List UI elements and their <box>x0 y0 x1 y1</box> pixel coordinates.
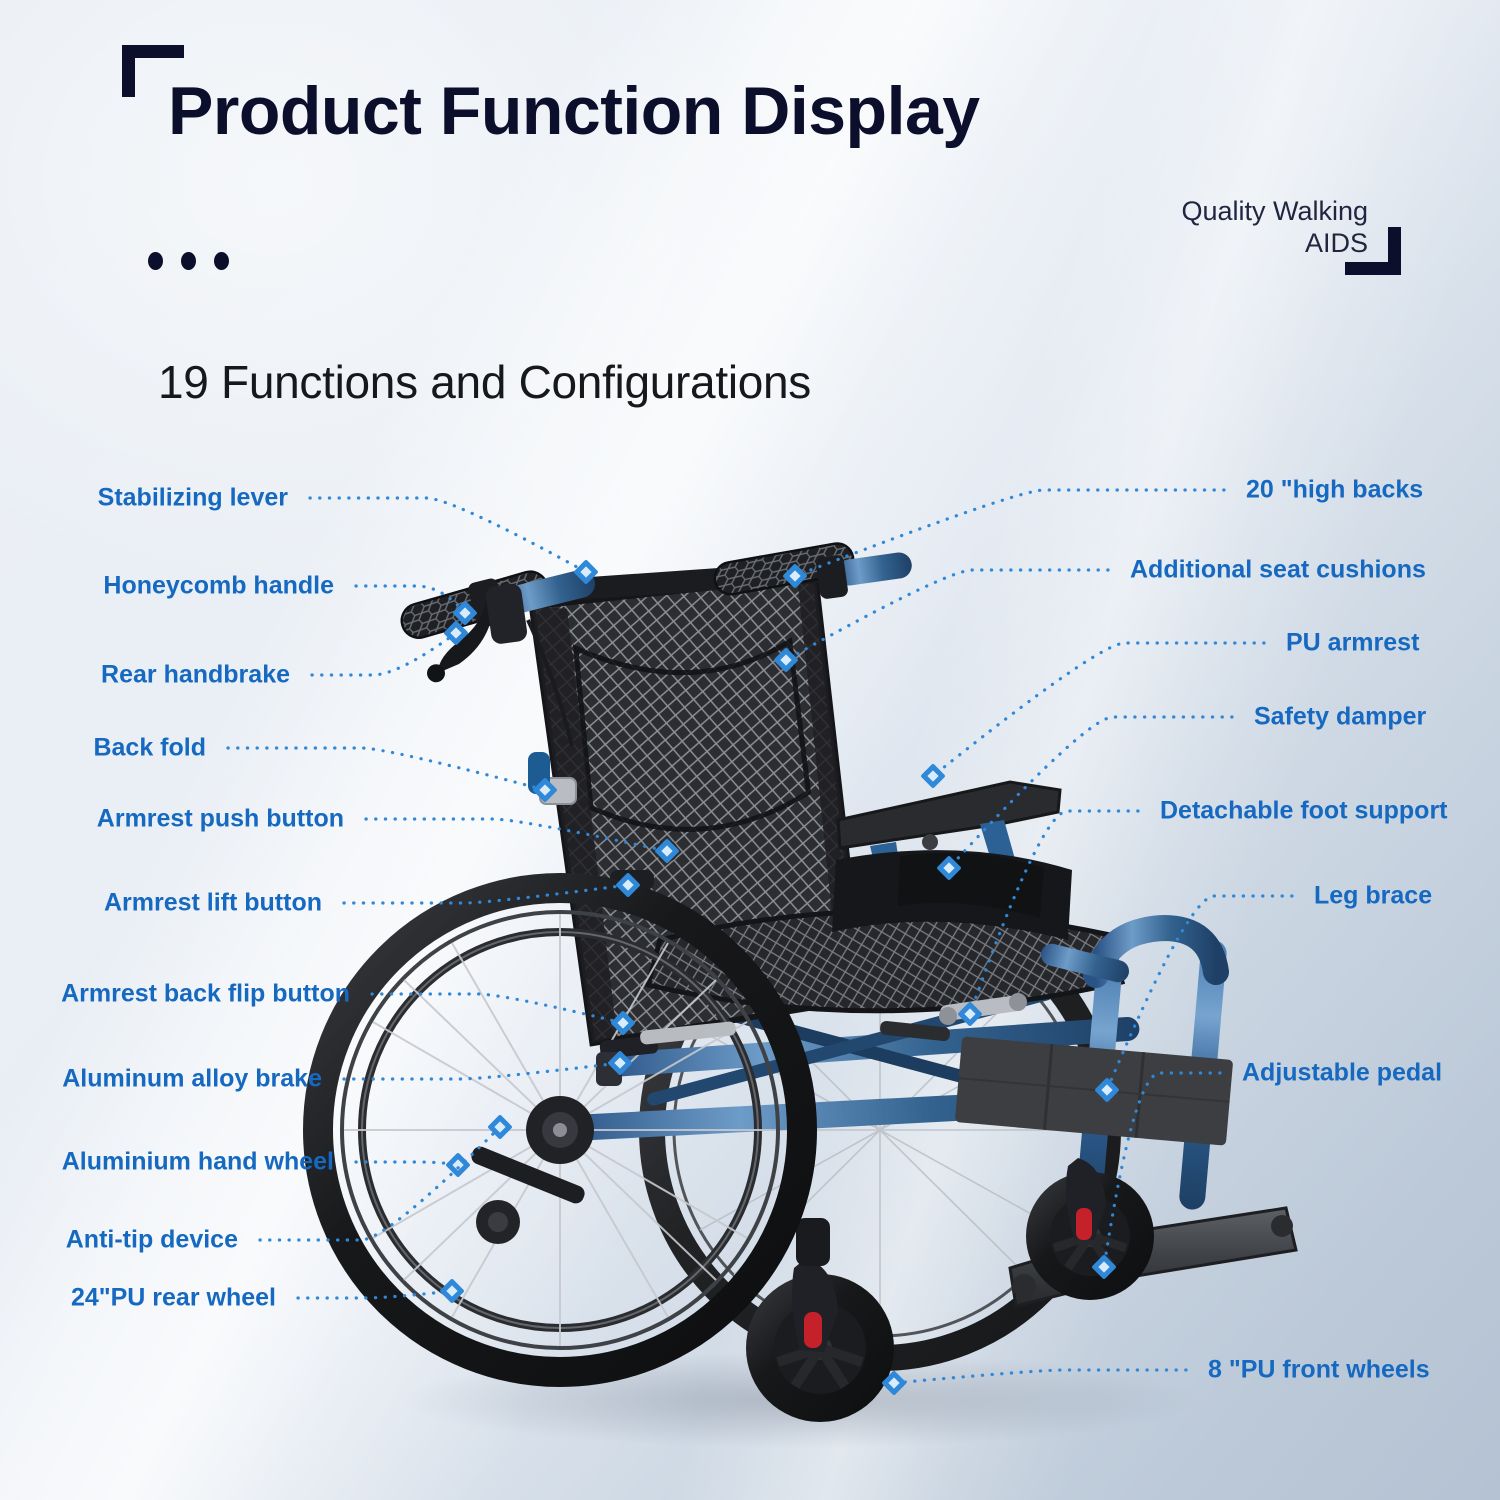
callout-label-safety-damper: Safety damper <box>1254 703 1426 732</box>
callout-label-honeycomb-handle: Honeycomb handle <box>103 572 334 601</box>
callout-label-anti-tip-device: Anti-tip device <box>66 1226 238 1255</box>
callout-label-detachable-foot-support: Detachable foot support <box>1160 797 1448 826</box>
callout-label-back-fold: Back fold <box>93 734 206 763</box>
callout-label-armrest-back-flip-button: Armrest back flip button <box>61 980 350 1009</box>
callout-label-aluminium-hand-wheel: Aluminium hand wheel <box>62 1148 334 1177</box>
callout-label-additional-seat-cushions: Additional seat cushions <box>1130 556 1426 585</box>
callout-label-8-pu-front-wheels: 8 "PU front wheels <box>1208 1356 1430 1385</box>
callout-label-pu-armrest: PU armrest <box>1286 629 1419 658</box>
subtitle-line-2: AIDS <box>1028 228 1368 260</box>
section-heading: 19 Functions and Configurations <box>158 355 811 409</box>
callout-label-20-high-backs: 20 "high backs <box>1246 476 1423 505</box>
dot-2 <box>181 252 196 270</box>
callout-label-stabilizing-lever: Stabilizing lever <box>98 484 288 513</box>
callout-label-armrest-push-button: Armrest push button <box>97 805 344 834</box>
callout-label-adjustable-pedal: Adjustable pedal <box>1242 1059 1442 1088</box>
decorative-dots <box>148 252 229 270</box>
callout-label-leg-brace: Leg brace <box>1314 882 1432 911</box>
callout-label-aluminum-alloy-brake: Aluminum alloy brake <box>62 1065 322 1094</box>
subtitle-line-1: Quality Walking <box>1028 196 1368 228</box>
dot-3 <box>214 252 229 270</box>
callout-label-24pu-rear-wheel: 24"PU rear wheel <box>71 1284 276 1313</box>
dot-1 <box>148 252 163 270</box>
callout-label-armrest-lift-button: Armrest lift button <box>104 889 322 918</box>
header-subtitle: Quality Walking AIDS <box>1028 196 1368 260</box>
callout-label-rear-handbrake: Rear handbrake <box>101 661 290 690</box>
page-title: Product Function Display <box>168 72 980 150</box>
